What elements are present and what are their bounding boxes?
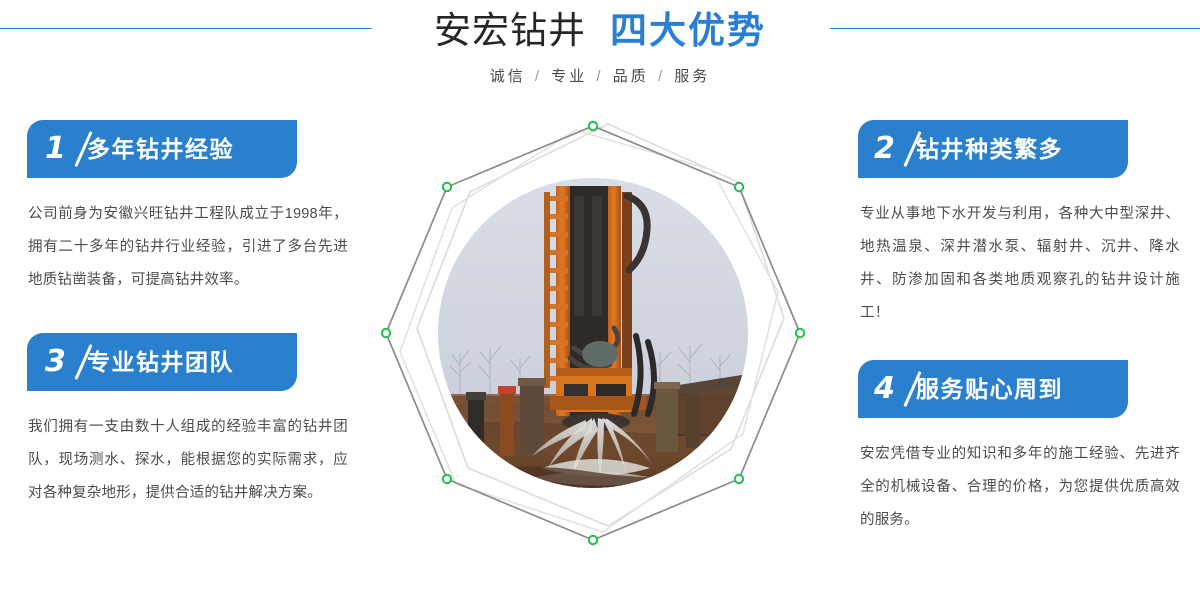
- vertex-marker-bottom: [589, 536, 597, 544]
- advantage-chip-4[interactable]: 4 服务贴心周到: [858, 360, 1128, 418]
- advantage-text-2: 专业从事地下水开发与利用，各种大中型深井、地热温泉、深井潜水泵、辐射井、沉井、降…: [848, 198, 1180, 330]
- page-title: 安宏钻井四大优势: [0, 8, 1200, 54]
- vertex-marker-bottom-right: [735, 475, 743, 483]
- advantage-text-3: 我们拥有一支由数十人组成的经验丰富的钻井团队，现场测水、探水，能根据您的实际需求…: [22, 411, 348, 510]
- advantage-number-4: 4: [874, 369, 916, 409]
- title-accent: 四大优势: [610, 10, 766, 51]
- subtitle-separator-1: /: [594, 68, 605, 85]
- vertex-marker-top-right: [735, 183, 743, 191]
- center-graphic-svg: [360, 96, 830, 586]
- advantage-title-2: 钻井种类繁多: [916, 135, 1063, 163]
- advantages-column-right: 2 钻井种类繁多 专业从事地下水开发与利用，各种大中型深井、地热温泉、深井潜水泵…: [848, 120, 1178, 537]
- advantage-title-1: 多年钻井经验: [87, 135, 234, 163]
- promo-banner: 安宏钻井四大优势 诚信 / 专业 / 品质 / 服务 1 多年钻井经验: [0, 0, 1200, 600]
- advantage-chip-1[interactable]: 1 多年钻井经验: [27, 120, 297, 178]
- advantages-column-left: 1 多年钻井经验 公司前身为安徽兴旺钻井工程队成立于1998年，拥有二十多年的钻…: [22, 120, 352, 510]
- advantage-text-1: 公司前身为安徽兴旺钻井工程队成立于1998年，拥有二十多年的钻井行业经验，引进了…: [22, 198, 348, 297]
- center-graphic: [360, 96, 830, 586]
- vertex-marker-bottom-left: [443, 475, 451, 483]
- advantage-title-4: 服务贴心周到: [916, 375, 1063, 403]
- subtitle-separator-2: /: [656, 68, 667, 85]
- vertex-marker-top-left: [443, 183, 451, 191]
- advantage-title-3: 专业钻井团队: [87, 348, 234, 376]
- vertex-marker-right: [796, 329, 804, 337]
- title-main: 安宏钻井: [434, 10, 586, 51]
- advantage-card-3[interactable]: 3 专业钻井团队 我们拥有一支由数十人组成的经验丰富的钻井团队，现场测水、探水，…: [22, 333, 352, 510]
- drilling-rig-photo: [438, 178, 748, 488]
- advantage-card-2[interactable]: 2 钻井种类繁多 专业从事地下水开发与利用，各种大中型深井、地热温泉、深井潜水泵…: [848, 120, 1178, 330]
- subtitle: 诚信 / 专业 / 品质 / 服务: [0, 66, 1200, 88]
- advantage-chip-2[interactable]: 2 钻井种类繁多: [858, 120, 1128, 178]
- advantage-number-2: 2: [874, 129, 916, 169]
- advantage-number-3: 3: [45, 342, 87, 382]
- vertex-marker-left: [382, 329, 390, 337]
- advantage-card-1[interactable]: 1 多年钻井经验 公司前身为安徽兴旺钻井工程队成立于1998年，拥有二十多年的钻…: [22, 120, 352, 297]
- subtitle-item-2: 品质: [613, 68, 649, 85]
- advantage-card-4[interactable]: 4 服务贴心周到 安宏凭借专业的知识和多年的施工经验、先进齐全的机械设备、合理的…: [848, 360, 1178, 537]
- subtitle-item-3: 服务: [674, 68, 710, 85]
- subtitle-item-0: 诚信: [490, 68, 526, 85]
- vertex-marker-top: [589, 122, 597, 130]
- advantage-number-1: 1: [45, 129, 87, 169]
- advantage-text-4: 安宏凭借专业的知识和多年的施工经验、先进齐全的机械设备、合理的价格，为您提供优质…: [848, 438, 1180, 537]
- subtitle-separator-0: /: [533, 68, 544, 85]
- advantage-chip-3[interactable]: 3 专业钻井团队: [27, 333, 297, 391]
- subtitle-item-1: 专业: [551, 68, 587, 85]
